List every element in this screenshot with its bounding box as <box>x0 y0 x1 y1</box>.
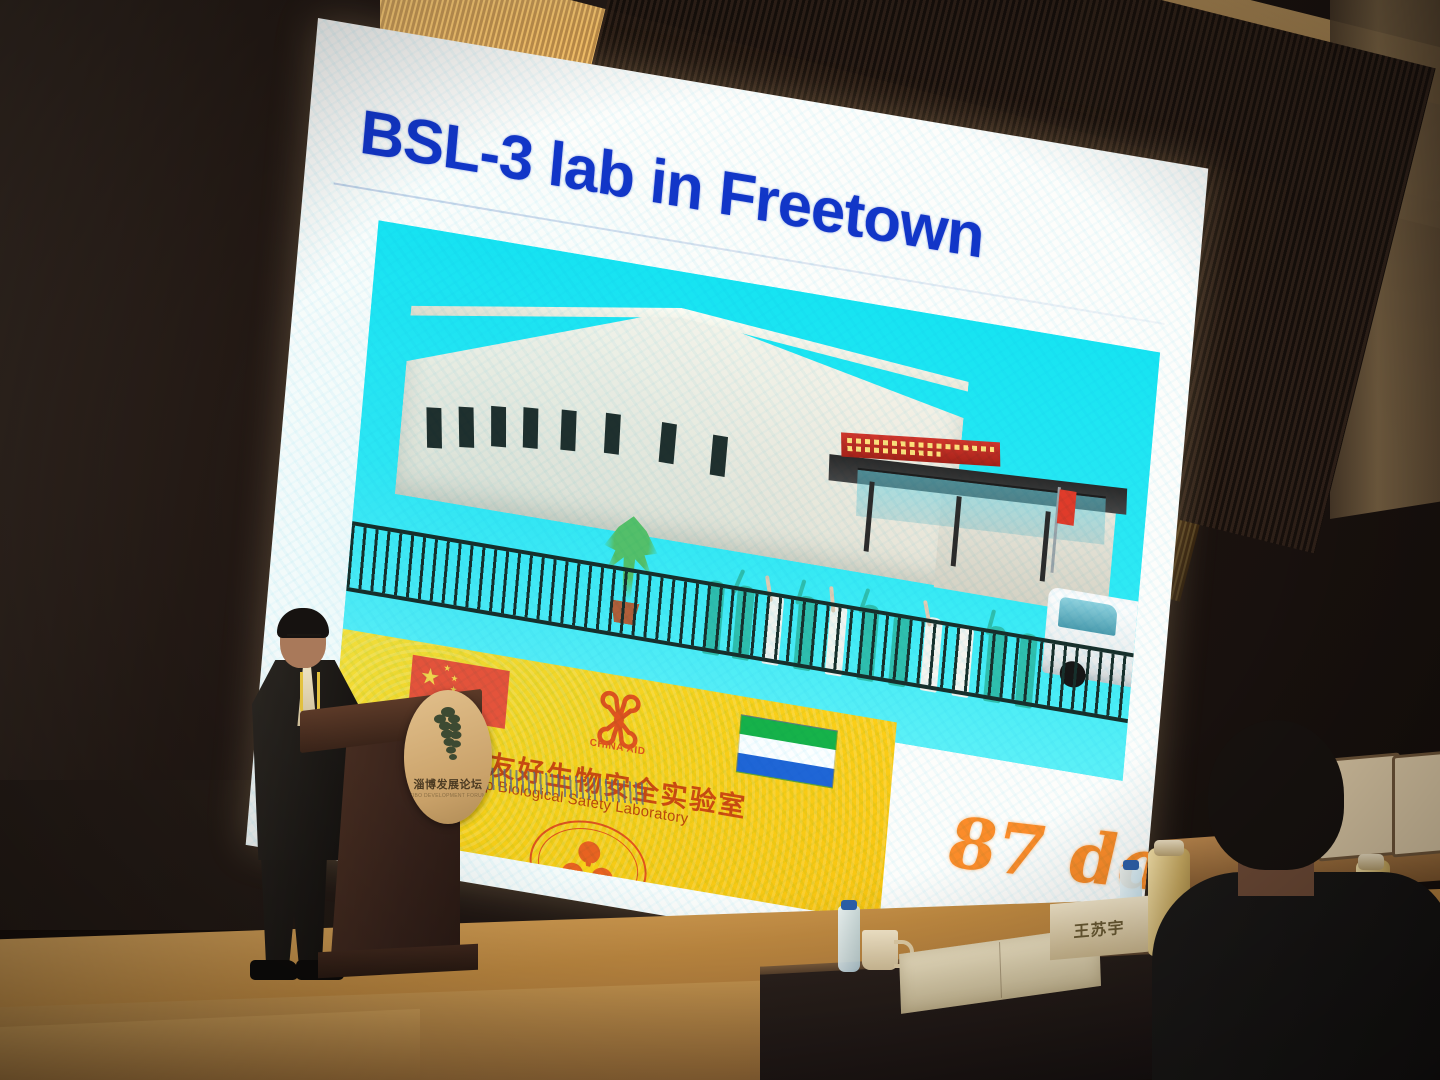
seated-attendee <box>1170 720 1430 1080</box>
name-plate: 王苏宇 <box>1050 896 1148 961</box>
window <box>523 407 539 449</box>
speaker-glasses-icon <box>287 634 321 644</box>
attendee-head <box>1208 720 1344 870</box>
attendee-torso <box>1152 872 1440 1080</box>
window <box>491 406 506 447</box>
china-flag-small <box>1057 489 1077 526</box>
bottle-cap <box>1123 860 1139 870</box>
podium-sign-chinese: 淄博发展论坛 <box>404 776 492 792</box>
podium-sign-english: ZIBO DEVELOPMENT FORUM <box>404 793 492 799</box>
water-bottle <box>838 906 860 972</box>
pinecone-logo-icon <box>426 704 470 766</box>
window <box>560 409 576 451</box>
window <box>459 407 475 448</box>
window <box>604 413 621 455</box>
window <box>426 407 442 448</box>
sierra-leone-flag <box>736 714 838 788</box>
coffee-mug <box>862 930 898 970</box>
vehicle-wheel <box>1146 674 1160 704</box>
name-plate-text: 王苏宇 <box>1073 914 1124 942</box>
presentation-scene: BSL-3 lab in Freetown <box>0 0 1440 1080</box>
bottle-cap <box>841 900 857 910</box>
podium-forum-sign: 淄博发展论坛 ZIBO DEVELOPMENT FORUM <box>404 690 492 824</box>
speaker-shoe <box>250 960 298 980</box>
